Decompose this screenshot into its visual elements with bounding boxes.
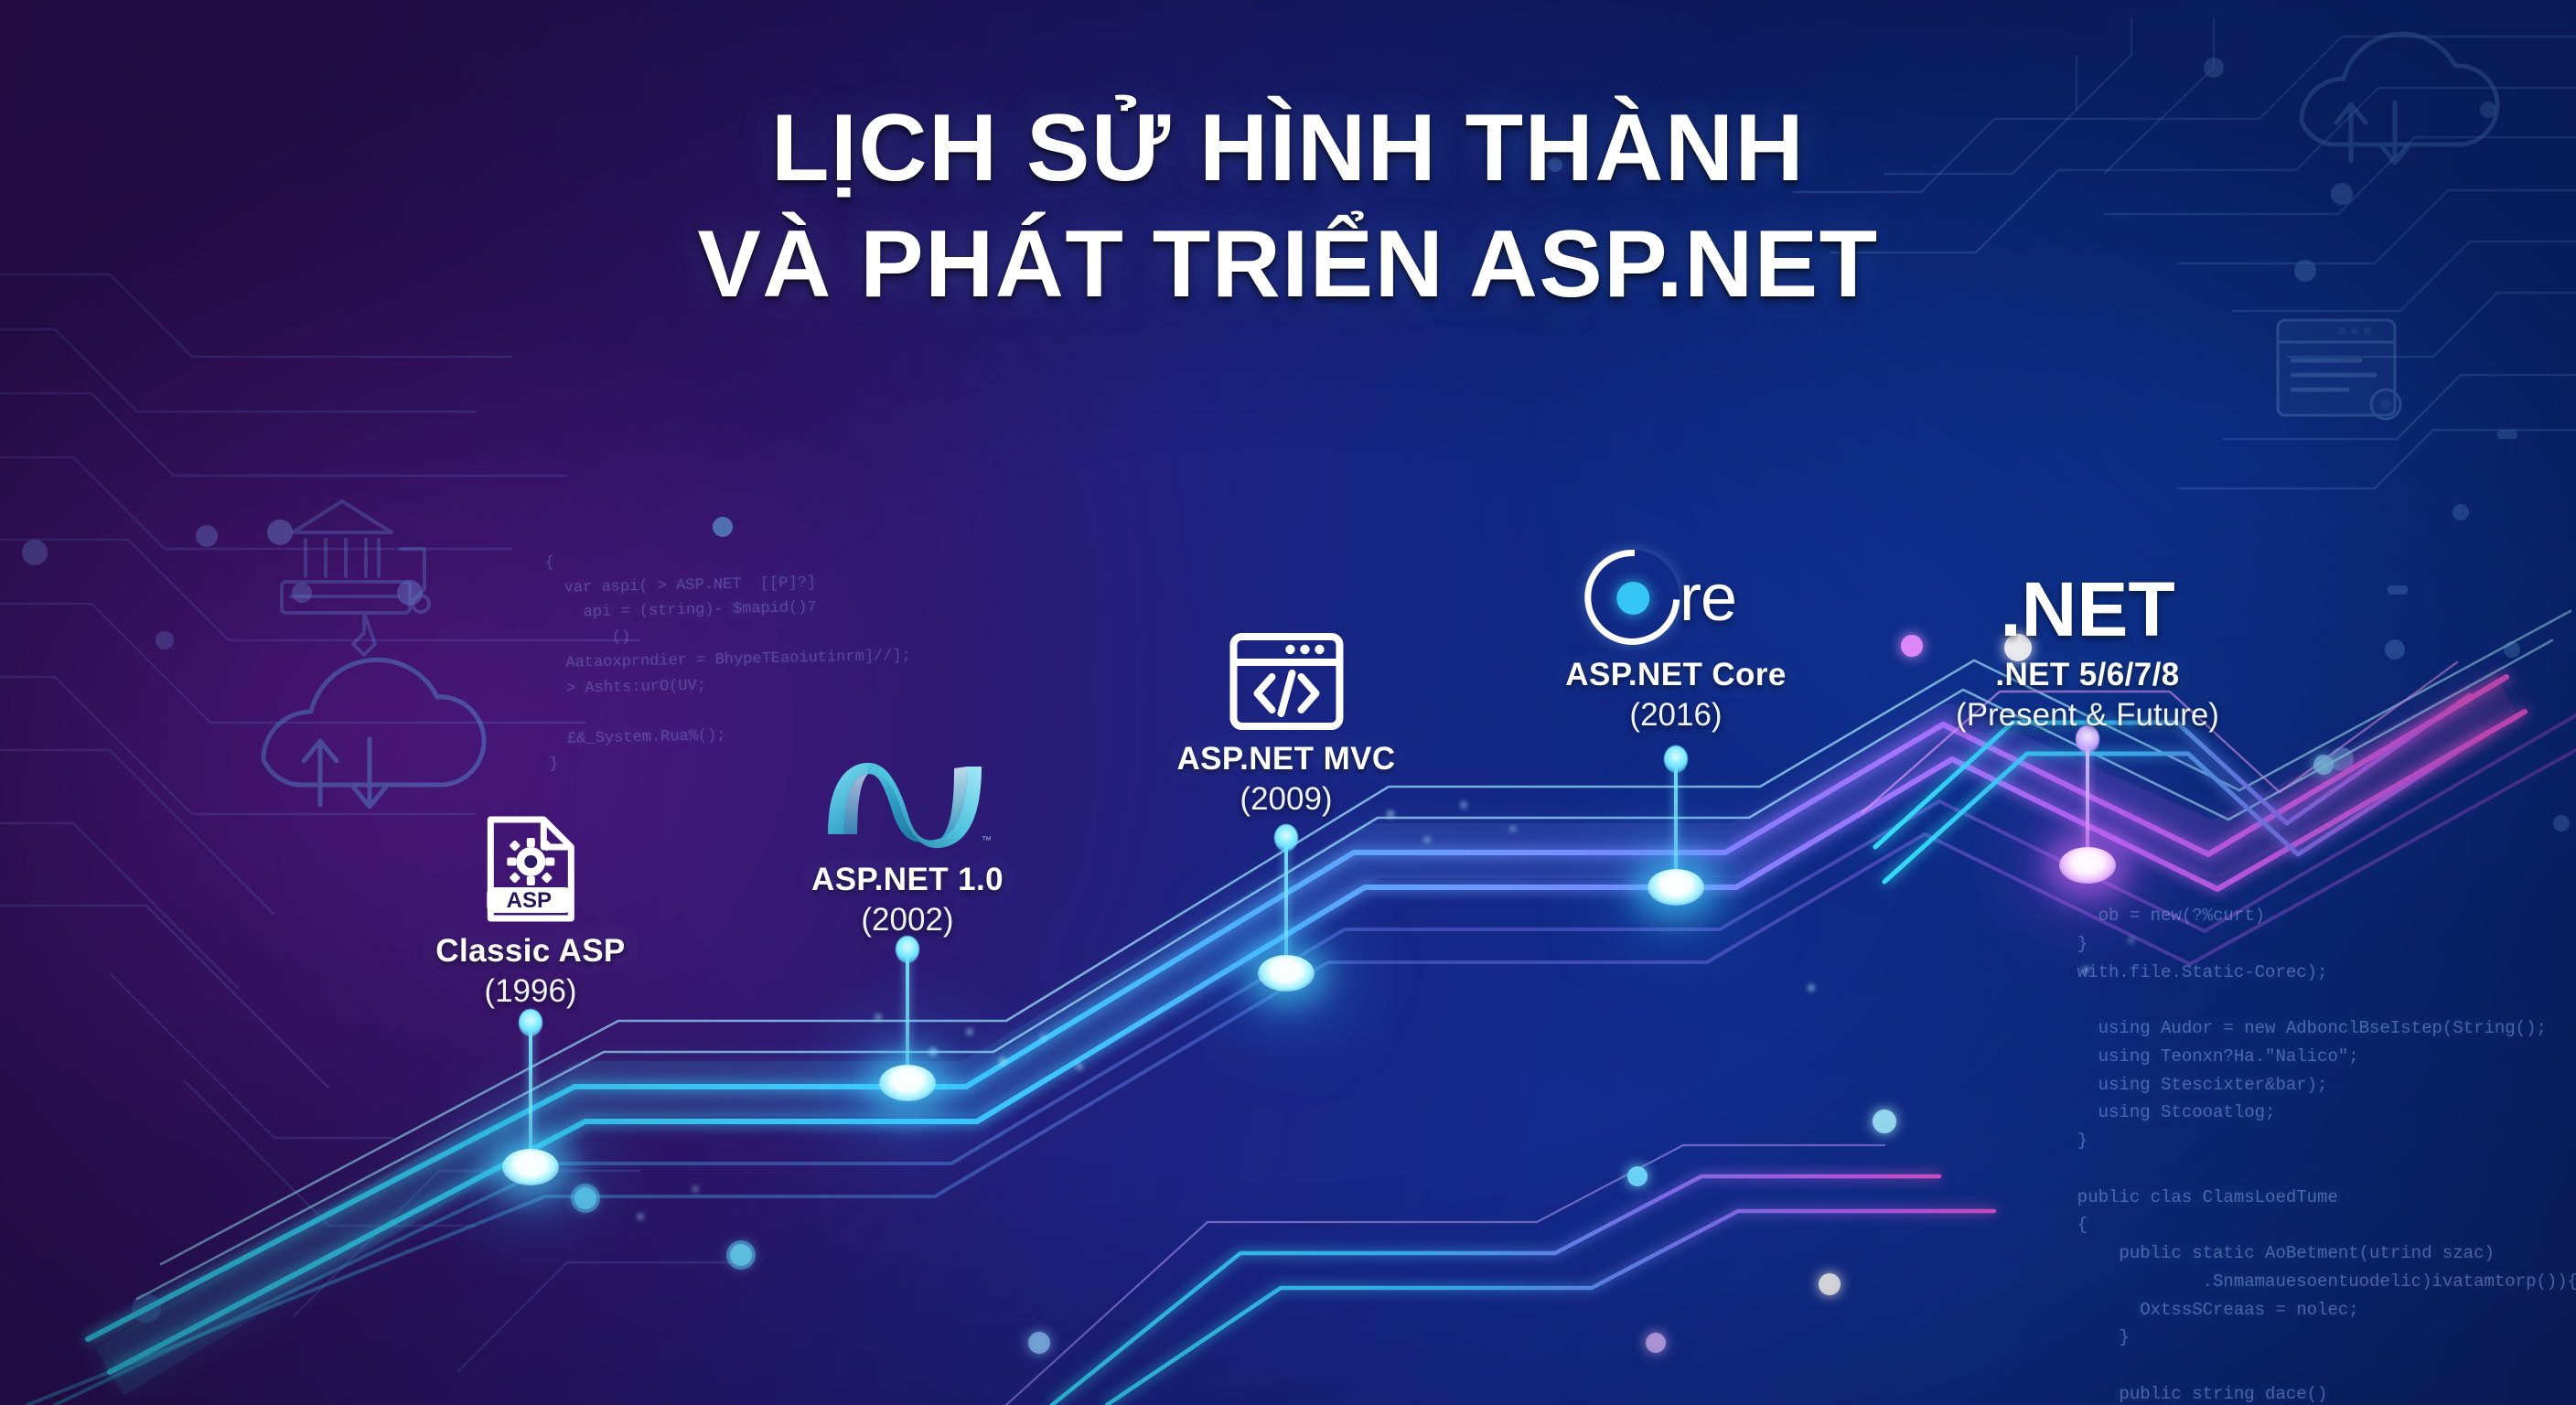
core-logo-icon: re — [1565, 538, 1786, 648]
stem-cap-aspnet-1-0 — [896, 936, 919, 963]
stem-cap-aspnet-core — [1664, 745, 1688, 773]
timeline-node-classic-asp[interactable] — [502, 1149, 559, 1185]
connector-stem-aspnet-core — [1674, 756, 1678, 887]
background-code-right: ob = new(?%curt) } with.file.Static-Core… — [2056, 902, 2576, 1405]
server-bank-icon — [282, 501, 429, 655]
milestone-year: (2016) — [1565, 697, 1786, 734]
timeline-node-aspnet-mvc[interactable] — [1258, 955, 1315, 992]
stem-cap-aspnet-mvc — [1274, 824, 1298, 852]
milestone-aspnet-mvc[interactable]: ASP.NET MVC (2009) — [1176, 622, 1395, 818]
milestone-name: ASP.NET MVC — [1176, 741, 1395, 778]
pcb-traces-left — [0, 274, 756, 1372]
connector-stem-classic-asp — [529, 1019, 532, 1167]
milestone-aspnet-1-0[interactable]: ™ ASP.NET 1.0 (2002) — [811, 743, 1004, 938]
milestone-year: (2002) — [811, 902, 1004, 938]
page-title: LỊCH SỬ HÌNH THÀNH VÀ PHÁT TRIỂN ASP.NET — [0, 99, 2576, 315]
cloud-sync-icon — [263, 660, 484, 807]
milestone-name: ASP.NET 1.0 — [811, 862, 1004, 898]
browser-document-gear-icon — [2278, 320, 2400, 419]
connector-stem-dotnet-modern — [2086, 735, 2089, 865]
milestone-aspnet-core[interactable]: re ASP.NET Core (2016) — [1565, 538, 1786, 734]
svg-text:™: ™ — [982, 835, 992, 846]
milestone-name: .NET 5/6/7/8 — [1956, 657, 2219, 693]
infographic-canvas: { var aspi( > ASP.NET [[P]?] api = (stri… — [0, 0, 2576, 1405]
connector-stem-aspnet-1-0 — [906, 946, 909, 1083]
timeline-node-aspnet-core[interactable] — [1648, 869, 1704, 906]
asp-document-gear-icon: ASP — [435, 814, 625, 924]
core-text: re — [1680, 565, 1736, 631]
connector-stem-aspnet-mvc — [1284, 834, 1288, 973]
timeline-node-dotnet-modern[interactable] — [2059, 847, 2116, 884]
milestone-name: ASP.NET Core — [1565, 657, 1786, 693]
title-line-1: LỊCH SỬ HÌNH THÀNH — [0, 99, 2576, 198]
milestone-year: (2009) — [1176, 781, 1395, 818]
title-line-2: VÀ PHÁT TRIỂN ASP.NET — [0, 215, 2576, 315]
milestone-year: (1996) — [435, 973, 625, 1010]
stem-cap-classic-asp — [519, 1009, 542, 1036]
core-dot-icon — [1616, 582, 1649, 615]
svg-text:ASP: ASP — [506, 888, 551, 913]
milestone-year: (Present & Future) — [1956, 697, 2219, 734]
dotnet-wordmark-icon: .NET — [1956, 538, 2219, 648]
milestone-name: Classic ASP — [435, 933, 625, 970]
code-window-icon — [1176, 622, 1395, 732]
milestone-classic-asp[interactable]: ASP Classic ASP (1996) — [435, 814, 625, 1010]
dotnet-swoosh-logo-icon: ™ — [811, 743, 1004, 853]
timeline-node-aspnet-1-0[interactable] — [879, 1065, 936, 1101]
milestone-dotnet-modern[interactable]: .NET .NET 5/6/7/8 (Present & Future) — [1956, 538, 2219, 734]
dotnet-wordmark-text: .NET — [2000, 571, 2174, 648]
